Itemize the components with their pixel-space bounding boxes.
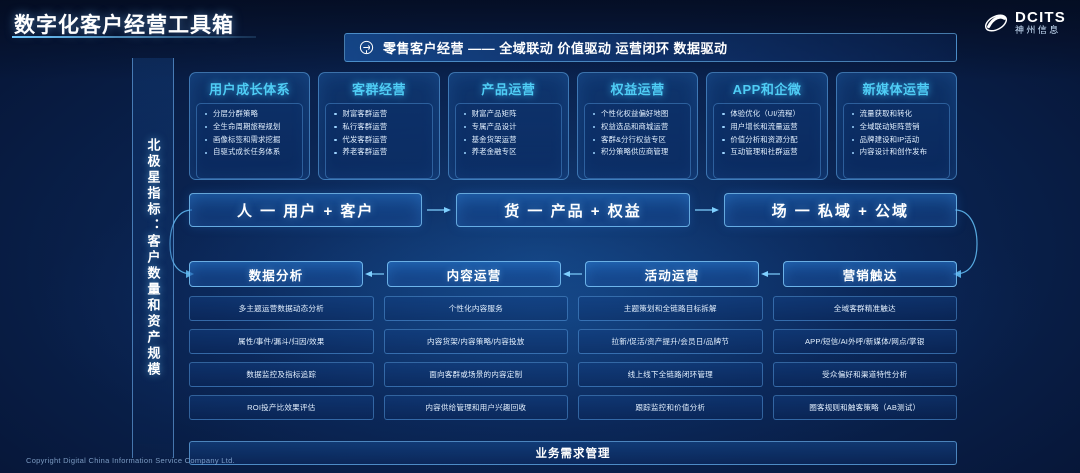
card-title: 产品运营: [481, 79, 535, 98]
card-bullet: 画像标签和需求挖掘: [202, 134, 298, 147]
stage-box-campaign-ops[interactable]: 活动运营: [585, 261, 759, 287]
grid-cell[interactable]: 跟踪监控和价值分析: [578, 395, 763, 420]
card-body: 流量获取和转化 全域联动矩阵营销 品牌建设和IP活动 内容设计和创作发布: [843, 103, 950, 179]
flow-box-people[interactable]: 人 一 用户 + 客户: [189, 193, 422, 227]
card-bullet: 财富客群运营: [331, 108, 427, 121]
capability-card[interactable]: APP和企微 体验优化（UI/流程） 用户增长和流量运营 价值分析和资源分配 互…: [706, 72, 827, 180]
grid-cell[interactable]: 个性化内容服务: [384, 296, 569, 321]
grid-cell[interactable]: 拉新/促活/资产提升/会员日/品牌节: [578, 329, 763, 354]
grid-cell[interactable]: 面向客群或场景的内容定制: [384, 362, 569, 387]
card-bullet: 养老客群运营: [331, 146, 427, 159]
card-bullet: 品牌建设和IP活动: [849, 134, 945, 147]
arrow-left-icon: [563, 269, 583, 279]
grid-column-content-ops: 个性化内容服务 内容货架/内容策略/内容投放 面向客群或场景的内容定制 内容供给…: [384, 296, 569, 420]
retail-banner-text: 零售客户经营 —— 全域联动 价值驱动 运营闭环 数据驱动: [383, 38, 728, 57]
retail-customer-icon: [359, 40, 374, 55]
card-bullet: 专属产品设计: [461, 121, 557, 134]
stage-arrow-1: [363, 269, 387, 279]
grid-cell[interactable]: 多主题运营数据动态分析: [189, 296, 374, 321]
card-bullet: 互动管理和社群运营: [719, 146, 815, 159]
stage-arrow-3: [759, 269, 783, 279]
card-title: 权益运营: [611, 79, 665, 98]
card-bullet: 价值分析和资源分配: [719, 134, 815, 147]
stage-arrow-2: [561, 269, 585, 279]
north-star-metric-label: 北极星指标：客户数量和资产规模: [144, 138, 163, 378]
arrow-left-icon: [761, 269, 781, 279]
card-bullet: 财富产品矩阵: [461, 108, 557, 121]
card-bullet: 体验优化（UI/流程）: [719, 108, 815, 121]
capability-card[interactable]: 用户成长体系 分层分群策略 全生命周期旅程规划 画像标签和需求挖掘 自驱式成长任…: [189, 72, 310, 180]
flow-box-field[interactable]: 场 一 私域 + 公域: [724, 193, 957, 227]
copyright-text: Copyright Digital China Information Serv…: [26, 456, 235, 465]
card-bullet: 分层分群策略: [202, 108, 298, 121]
card-title: 用户成长体系: [209, 79, 290, 98]
flow-arrow-2: [690, 205, 724, 215]
retail-banner: 零售客户经营 —— 全域联动 价值驱动 运营闭环 数据驱动: [344, 33, 957, 62]
card-bullet: 代发客群运营: [331, 134, 427, 147]
stage-box-content-ops[interactable]: 内容运营: [387, 261, 561, 287]
capability-grid: 多主题运营数据动态分析 属性/事件/漏斗/归因/效果 数据监控及指标追踪 ROI…: [189, 296, 957, 420]
grid-cell[interactable]: 数据监控及指标追踪: [189, 362, 374, 387]
card-bullet: 内容设计和创作发布: [849, 146, 945, 159]
card-bullet: 个性化权益偏好地图: [590, 108, 686, 121]
card-title: APP和企微: [733, 79, 802, 98]
card-body: 个性化权益偏好地图 权益选品和商城运营 客群&分行权益专区 积分策略供应商管理: [584, 103, 691, 179]
people-goods-field-row: 人 一 用户 + 客户 货 一 产品 + 权益 场 一 私域 + 公域: [189, 193, 957, 227]
grid-cell[interactable]: 属性/事件/漏斗/归因/效果: [189, 329, 374, 354]
grid-column-data-analysis: 多主题运营数据动态分析 属性/事件/漏斗/归因/效果 数据监控及指标追踪 ROI…: [189, 296, 374, 420]
card-bullet: 自驱式成长任务体系: [202, 146, 298, 159]
grid-column-campaign-ops: 主题策划和全链路目标拆解 拉新/促活/资产提升/会员日/品牌节 线上线下全链路闭…: [578, 296, 763, 420]
logo-text-cn: 神州信息: [1015, 26, 1066, 35]
card-bullet: 全域联动矩阵营销: [849, 121, 945, 134]
card-bullet: 权益选品和商城运营: [590, 121, 686, 134]
card-bullet: 客群&分行权益专区: [590, 134, 686, 147]
card-body: 财富产品矩阵 专属产品设计 基金货架运营 养老金融专区: [455, 103, 562, 179]
capability-card[interactable]: 客群经营 财富客群运营 私行客群运营 代发客群运营 养老客群运营: [318, 72, 439, 180]
card-title: 新媒体运营: [863, 79, 931, 98]
card-bullet: 用户增长和流量运营: [719, 121, 815, 134]
grid-cell[interactable]: 线上线下全链路闭环管理: [578, 362, 763, 387]
grid-cell[interactable]: 全域客群精准触达: [773, 296, 958, 321]
north-star-metric-strip: 北极星指标：客户数量和资产规模: [132, 58, 174, 458]
grid-cell[interactable]: 内容供给管理和用户兴趣回收: [384, 395, 569, 420]
business-requirement-bar[interactable]: 业务需求管理: [189, 441, 957, 465]
flow-box-goods[interactable]: 货 一 产品 + 权益: [456, 193, 689, 227]
card-bullet: 养老金融专区: [461, 146, 557, 159]
grid-cell[interactable]: 主题策划和全链路目标拆解: [578, 296, 763, 321]
arrow-right-icon: [426, 205, 452, 215]
capability-card[interactable]: 权益运营 个性化权益偏好地图 权益选品和商城运营 客群&分行权益专区 积分策略供…: [577, 72, 698, 180]
arrow-left-icon: [365, 269, 385, 279]
card-bullet: 基金货架运营: [461, 134, 557, 147]
capability-cards: 用户成长体系 分层分群策略 全生命周期旅程规划 画像标签和需求挖掘 自驱式成长任…: [189, 72, 957, 180]
card-bullet: 私行客群运营: [331, 121, 427, 134]
grid-column-marketing-reach: 全域客群精准触达 APP/短信/AI外呼/新媒体/网点/掌银 受众偏好和渠道特性…: [773, 296, 958, 420]
brand-logo: DCITS 神州信息: [983, 10, 1066, 36]
dcits-swoosh-logo-icon: [983, 10, 1009, 36]
page-title: 数字化客户经营工具箱: [14, 9, 234, 39]
card-bullet: 流量获取和转化: [849, 108, 945, 121]
card-body: 分层分群策略 全生命周期旅程规划 画像标签和需求挖掘 自驱式成长任务体系: [196, 103, 303, 179]
card-body: 财富客群运营 私行客群运营 代发客群运营 养老客群运营: [325, 103, 432, 179]
capability-card[interactable]: 产品运营 财富产品矩阵 专属产品设计 基金货架运营 养老金融专区: [448, 72, 569, 180]
arrow-right-icon: [694, 205, 720, 215]
stage-box-marketing-reach[interactable]: 营销触达: [783, 261, 957, 287]
card-bullet: 全生命周期旅程规划: [202, 121, 298, 134]
title-underline: [12, 36, 256, 38]
operation-stage-row: 数据分析 内容运营 活动运营 营销触达: [189, 261, 957, 287]
grid-cell[interactable]: 内容货架/内容策略/内容投放: [384, 329, 569, 354]
grid-cell[interactable]: 圈客规则和触客策略（AB测试）: [773, 395, 958, 420]
card-bullet: 积分策略供应商管理: [590, 146, 686, 159]
grid-cell[interactable]: ROI投产比效果评估: [189, 395, 374, 420]
flow-arrow-1: [422, 205, 456, 215]
card-body: 体验优化（UI/流程） 用户增长和流量运营 价值分析和资源分配 互动管理和社群运…: [713, 103, 820, 179]
capability-card[interactable]: 新媒体运营 流量获取和转化 全域联动矩阵营销 品牌建设和IP活动 内容设计和创作…: [836, 72, 957, 180]
stage-box-data-analysis[interactable]: 数据分析: [189, 261, 363, 287]
grid-cell[interactable]: 受众偏好和渠道特性分析: [773, 362, 958, 387]
grid-cell[interactable]: APP/短信/AI外呼/新媒体/网点/掌银: [773, 329, 958, 354]
card-title: 客群经营: [352, 79, 406, 98]
logo-text-en: DCITS: [1015, 10, 1066, 26]
